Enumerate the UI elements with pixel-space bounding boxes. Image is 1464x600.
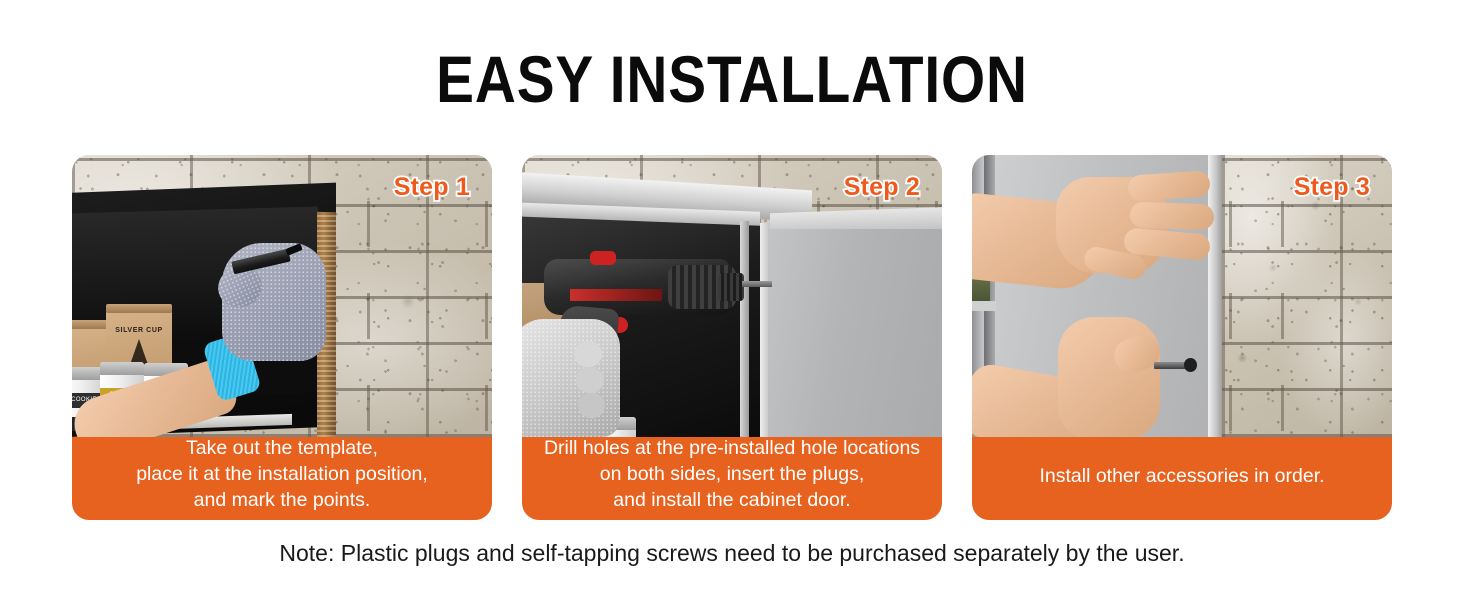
cabinet-side-edge xyxy=(1208,155,1222,437)
step-badge-2: Step 2 xyxy=(844,173,920,202)
glove-finger xyxy=(576,367,604,393)
work-glove xyxy=(522,319,620,437)
step-card-3: Step 3 Install other accessories in orde… xyxy=(972,155,1392,520)
screw-shank xyxy=(1154,362,1188,369)
cabinet-stile xyxy=(740,221,749,437)
drill-chuck xyxy=(718,273,744,301)
finger xyxy=(1130,202,1215,231)
step-caption-3-text: Install other accessories in order. xyxy=(1039,463,1324,489)
step-card-1: SILVER CUP WONDERLAND COOKIE COOKIE COOK… xyxy=(72,155,492,520)
page-title: EASY INSTALLATION xyxy=(102,46,1361,112)
step-caption-1-text: Take out the template, place it at the i… xyxy=(136,435,428,513)
step-caption-2-text: Drill holes at the pre-installed hole lo… xyxy=(544,435,920,513)
glove-finger xyxy=(574,341,602,367)
step-2-photo: SILVER CUP Step 2 xyxy=(522,155,942,437)
drill-bit xyxy=(742,281,772,287)
step-badge-1: Step 1 xyxy=(394,173,470,202)
step-card-2: SILVER CUP Step 2 xyxy=(522,155,942,520)
step-1-photo: SILVER CUP WONDERLAND COOKIE COOKIE COOK… xyxy=(72,155,492,437)
drill-forward-reverse-button xyxy=(590,251,616,265)
step-caption-2: Drill holes at the pre-installed hole lo… xyxy=(522,437,942,520)
shelf-edge xyxy=(972,301,996,311)
screw-head xyxy=(1184,358,1197,372)
footnote: Note: Plastic plugs and self-tapping scr… xyxy=(0,540,1464,567)
cabinet-door-panel xyxy=(768,229,942,437)
coffee-bag-brand: SILVER CUP xyxy=(106,327,172,334)
step-badge-3: Step 3 xyxy=(1294,173,1370,202)
step-3-photo: Step 3 xyxy=(972,155,1392,437)
step-caption-1: Take out the template, place it at the i… xyxy=(72,437,492,520)
glove-finger xyxy=(578,393,605,418)
step-caption-3: Install other accessories in order. xyxy=(972,437,1392,520)
steps-row: SILVER CUP WONDERLAND COOKIE COOKIE COOK… xyxy=(72,155,1392,520)
drill-brand-label xyxy=(570,289,662,301)
